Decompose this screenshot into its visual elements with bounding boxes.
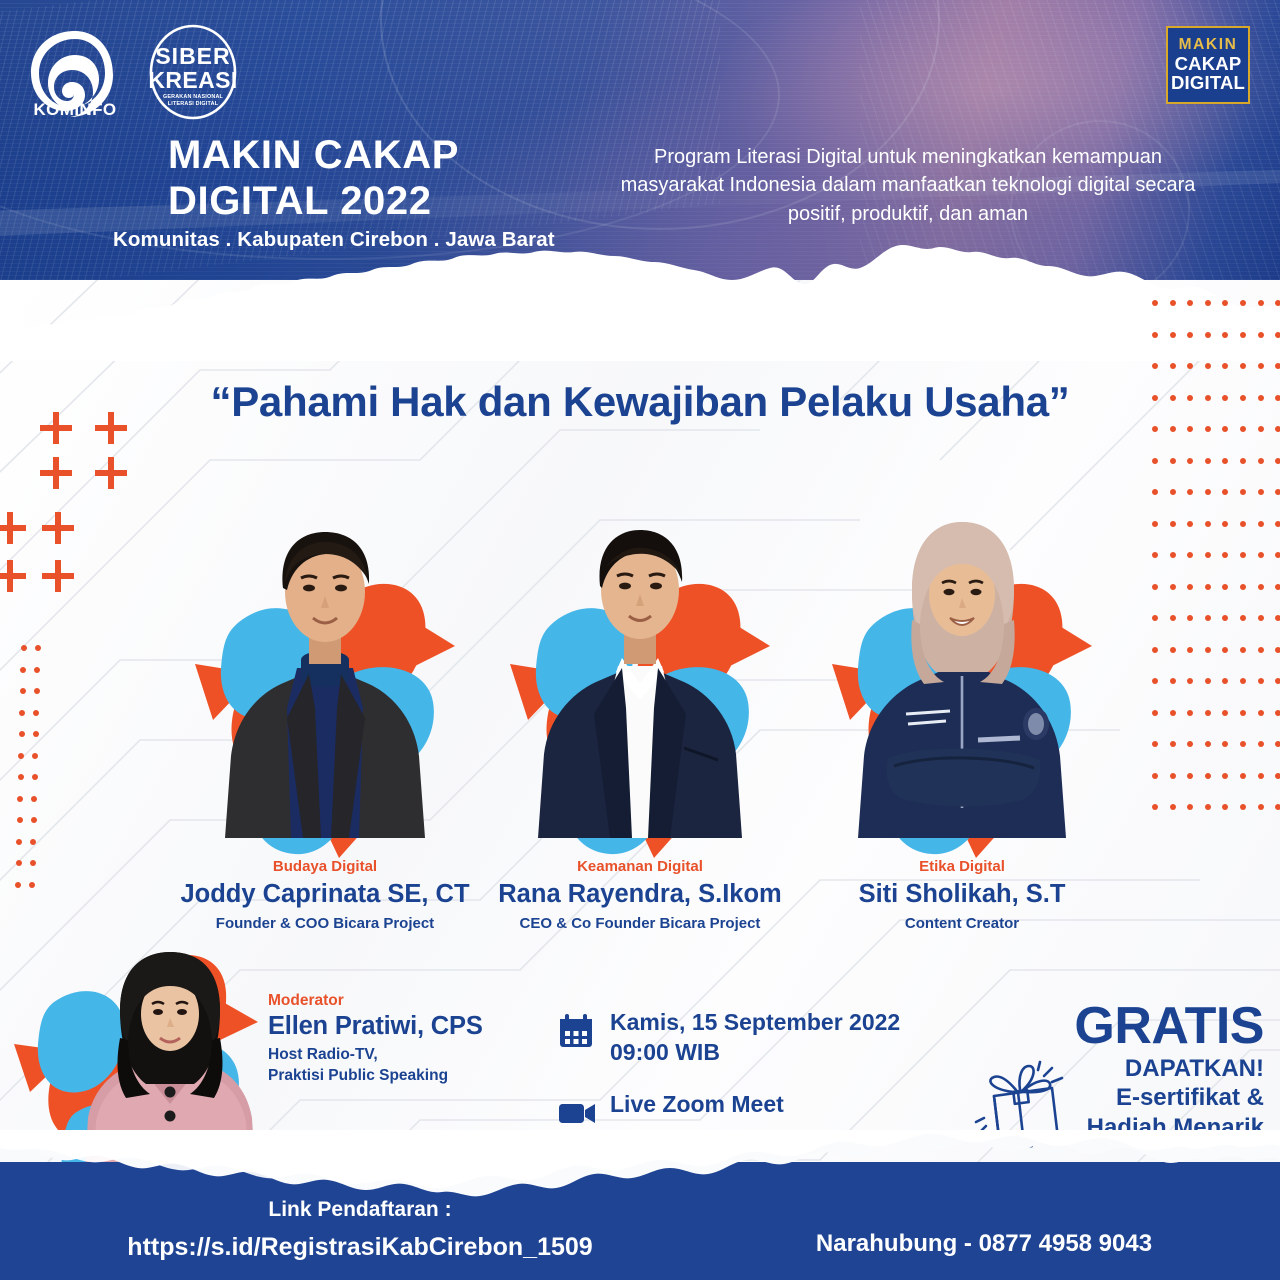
decor-dot xyxy=(1240,647,1246,653)
speaker-card: Etika Digital Siti Sholikah, S.T Content… xyxy=(812,498,1112,918)
decor-dot xyxy=(1170,584,1176,590)
decor-dot xyxy=(1152,426,1158,432)
decor-dot xyxy=(1258,458,1264,464)
decor-dot xyxy=(1187,647,1193,653)
event-date-row: Kamis, 15 September 2022 09:00 WIB xyxy=(556,1008,956,1068)
decor-dot xyxy=(1170,300,1176,306)
decor-dot xyxy=(1222,804,1228,810)
decor-dot xyxy=(1258,363,1264,369)
moderator-text-block: Moderator Ellen Pratiwi, CPS Host Radio-… xyxy=(268,992,528,1087)
decor-dot xyxy=(1275,647,1280,653)
speaker-photo xyxy=(217,508,433,838)
decor-dot xyxy=(1275,363,1280,369)
speaker-card: Keamanan Digital Rana Rayendra, S.Ikom C… xyxy=(490,498,790,918)
decor-dot xyxy=(1187,521,1193,527)
decor-dot xyxy=(1170,773,1176,779)
decor-dot xyxy=(1152,584,1158,590)
decor-dot xyxy=(1205,363,1211,369)
speaker-role: CEO & Co Founder Bicara Project xyxy=(465,915,815,932)
decor-dot xyxy=(1222,521,1228,527)
decor-dot xyxy=(1205,773,1211,779)
decor-dot xyxy=(1187,615,1193,621)
decor-dot xyxy=(1205,521,1211,527)
decor-dot xyxy=(1170,458,1176,464)
decor-dot xyxy=(1187,363,1193,369)
video-camera-icon xyxy=(556,1090,610,1139)
decor-dot xyxy=(1170,741,1176,747)
decor-dot xyxy=(1187,773,1193,779)
moderator-role-line2: Praktisi Public Speaking xyxy=(268,1066,528,1087)
decor-dot xyxy=(1275,678,1280,684)
decor-dot xyxy=(1187,552,1193,558)
decor-dot xyxy=(1275,615,1280,621)
decor-dot xyxy=(1152,615,1158,621)
event-platform-row: Live Zoom Meet xyxy=(556,1090,956,1139)
decor-dot xyxy=(1240,521,1246,527)
decor-dot xyxy=(1240,300,1246,306)
decor-dot xyxy=(1170,804,1176,810)
decor-dot xyxy=(1240,678,1246,684)
decor-dot xyxy=(1152,489,1158,495)
decor-dot xyxy=(1205,552,1211,558)
decor-dot xyxy=(1152,804,1158,810)
speaker-photo xyxy=(532,508,748,838)
decor-dot xyxy=(1240,773,1246,779)
decor-dot xyxy=(1258,615,1264,621)
decor-dot xyxy=(1222,489,1228,495)
decor-dot xyxy=(1152,300,1158,306)
decor-dot xyxy=(1240,710,1246,716)
decor-dot xyxy=(1170,521,1176,527)
decor-dot xyxy=(1152,647,1158,653)
decor-dot xyxy=(1187,678,1193,684)
decor-dot xyxy=(1258,426,1264,432)
page-title: “Pahami Hak dan Kewajiban Pelaku Usaha” xyxy=(0,378,1280,426)
decor-dot xyxy=(1222,615,1228,621)
decor-dot xyxy=(1170,363,1176,369)
decor-dot xyxy=(1205,678,1211,684)
decor-dot xyxy=(1222,773,1228,779)
decor-dot xyxy=(1187,332,1193,338)
speaker-category: Keamanan Digital xyxy=(490,858,790,875)
speaker-name: Rana Rayendra, S.Ikom xyxy=(475,880,805,909)
gift-box-icon xyxy=(974,1060,1070,1152)
decor-dot xyxy=(1258,300,1264,306)
decor-dot xyxy=(1240,458,1246,464)
decor-dot xyxy=(1152,710,1158,716)
decor-dot xyxy=(1240,363,1246,369)
decor-dot xyxy=(1275,489,1280,495)
decor-dot xyxy=(1205,458,1211,464)
decor-dot xyxy=(1187,804,1193,810)
decor-dot xyxy=(1187,489,1193,495)
decor-dot xyxy=(1170,678,1176,684)
speaker-name: Siti Sholikah, S.T xyxy=(797,880,1127,909)
event-date-text: Kamis, 15 September 2022 09:00 WIB xyxy=(610,1008,900,1068)
decor-dot xyxy=(1222,552,1228,558)
decor-dot xyxy=(1240,615,1246,621)
decor-dot xyxy=(1258,678,1264,684)
moderator-card: Moderator Ellen Pratiwi, CPS Host Radio-… xyxy=(10,940,530,1190)
speaker-category: Etika Digital xyxy=(812,858,1112,875)
decor-dot xyxy=(1187,458,1193,464)
speaker-name: Joddy Caprinata SE, CT xyxy=(160,880,490,909)
decor-dot xyxy=(1275,552,1280,558)
decor-dot xyxy=(1187,584,1193,590)
decor-dot xyxy=(1205,332,1211,338)
decor-dot xyxy=(1275,710,1280,716)
decor-dot xyxy=(1240,332,1246,338)
decor-dot xyxy=(1258,741,1264,747)
decor-dot xyxy=(1275,741,1280,747)
decor-dot xyxy=(1240,741,1246,747)
registration-link-url[interactable]: https://s.id/RegistrasiKabCirebon_1509 xyxy=(0,1233,720,1262)
decor-dot xyxy=(1258,552,1264,558)
speaker-role: Content Creator xyxy=(787,915,1137,932)
promo-block: GRATIS DAPATKAN! E-sertifikat & Hadiah M… xyxy=(964,1000,1264,1142)
decor-dot xyxy=(1187,300,1193,306)
event-platform-text: Live Zoom Meet xyxy=(610,1090,784,1120)
poster-footer: Link Pendaftaran : https://s.id/Registra… xyxy=(0,1162,1280,1280)
decor-dot xyxy=(1205,489,1211,495)
decor-dot xyxy=(1222,300,1228,306)
decor-dot xyxy=(1170,332,1176,338)
decor-dot xyxy=(1152,773,1158,779)
decor-dot xyxy=(1275,332,1280,338)
decor-dot xyxy=(1205,615,1211,621)
decor-dot xyxy=(1258,647,1264,653)
decor-dot xyxy=(1170,426,1176,432)
decor-dot xyxy=(1187,741,1193,747)
decor-dot xyxy=(1222,426,1228,432)
decor-dot xyxy=(1205,584,1211,590)
decor-dot xyxy=(1258,773,1264,779)
decor-dot xyxy=(1205,300,1211,306)
speaker-category: Budaya Digital xyxy=(175,858,475,875)
decor-dot xyxy=(1152,332,1158,338)
decor-dot xyxy=(1258,521,1264,527)
promo-headline: GRATIS xyxy=(964,1000,1264,1052)
decor-dot xyxy=(1222,363,1228,369)
decor-dot xyxy=(1240,584,1246,590)
poster-canvas: KOMINFO SIBER KREASI GERAKAN NASIONAL LI… xyxy=(0,0,1280,1280)
event-info-block: Kamis, 15 September 2022 09:00 WIB Live … xyxy=(556,1008,956,1161)
decor-dot xyxy=(1170,489,1176,495)
decor-dot xyxy=(1240,552,1246,558)
moderator-role-line1: Host Radio-TV, xyxy=(268,1045,528,1066)
moderator-photo xyxy=(82,948,257,1183)
decor-dot xyxy=(1222,741,1228,747)
decor-dot xyxy=(1222,647,1228,653)
decor-dot xyxy=(1170,647,1176,653)
decor-dot xyxy=(1258,332,1264,338)
decor-dot xyxy=(1205,741,1211,747)
decor-dot xyxy=(1240,804,1246,810)
decor-dot xyxy=(1275,804,1280,810)
decor-dot xyxy=(1205,804,1211,810)
decor-dot xyxy=(1152,363,1158,369)
decor-dot xyxy=(1222,710,1228,716)
decor-dot xyxy=(1275,426,1280,432)
event-date-line2: 09:00 WIB xyxy=(610,1038,900,1068)
decor-dot xyxy=(1152,552,1158,558)
decor-dot xyxy=(1275,773,1280,779)
decor-dot xyxy=(1170,615,1176,621)
decor-dot xyxy=(1187,710,1193,716)
moderator-category: Moderator xyxy=(268,992,528,1010)
moderator-role: Host Radio-TV, Praktisi Public Speaking xyxy=(268,1045,528,1087)
decor-dot xyxy=(1240,426,1246,432)
event-date-line1: Kamis, 15 September 2022 xyxy=(610,1008,900,1038)
decor-dot xyxy=(1275,300,1280,306)
decor-dot xyxy=(1205,426,1211,432)
speaker-role: Founder & COO Bicara Project xyxy=(150,915,500,932)
contact-phone: Narahubung - 0877 4958 9043 xyxy=(724,1230,1244,1258)
decor-dot xyxy=(1275,458,1280,464)
decor-dot xyxy=(1258,584,1264,590)
decor-dot xyxy=(1152,458,1158,464)
decor-dot xyxy=(1240,489,1246,495)
decor-dot xyxy=(1170,710,1176,716)
decor-dot xyxy=(1205,710,1211,716)
registration-link-label: Link Pendaftaran : xyxy=(0,1198,720,1222)
decor-dot xyxy=(1222,678,1228,684)
decor-dot xyxy=(1258,804,1264,810)
decor-dot xyxy=(1187,426,1193,432)
speaker-photo xyxy=(854,508,1070,838)
decor-dot xyxy=(1152,741,1158,747)
decor-dot xyxy=(1152,521,1158,527)
decor-dot xyxy=(1258,710,1264,716)
decor-dot xyxy=(1222,332,1228,338)
decor-dot xyxy=(1275,521,1280,527)
decor-dot xyxy=(1222,584,1228,590)
speaker-card: Budaya Digital Joddy Caprinata SE, CT Fo… xyxy=(175,498,475,918)
moderator-name: Ellen Pratiwi, CPS xyxy=(268,1012,528,1041)
calendar-icon xyxy=(556,1008,610,1057)
decor-dot xyxy=(1222,458,1228,464)
decor-dot xyxy=(1152,678,1158,684)
decor-dot xyxy=(1170,552,1176,558)
decor-dot xyxy=(1205,647,1211,653)
decor-dot xyxy=(1258,489,1264,495)
decor-dot xyxy=(1275,584,1280,590)
